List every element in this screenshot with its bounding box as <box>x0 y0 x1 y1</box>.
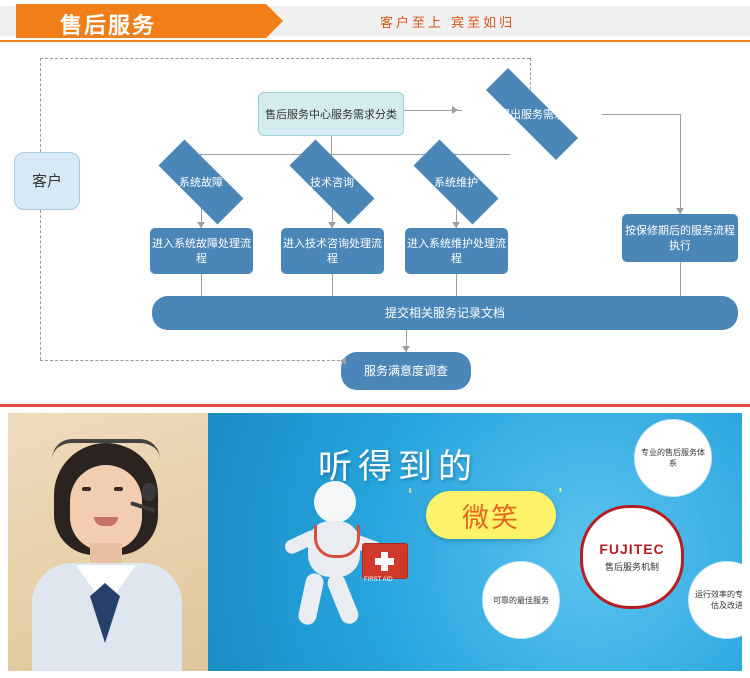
node-decision-1-label: 技术咨询 <box>273 156 391 208</box>
header-title: 售后服务 <box>60 8 156 40</box>
node-customer[interactable]: 客户 <box>14 152 80 210</box>
banner-inner: 听得到的 ‘ 微笑 ’ FIRST AID <box>8 413 742 671</box>
line-warranty-submit <box>680 262 681 296</box>
line-proc1-submit <box>332 274 333 296</box>
operator-photo <box>8 413 208 671</box>
brand-core: FUJITEC 售后服务机制 <box>580 505 684 609</box>
node-warranty-process[interactable]: 按保修期后的服务流程执行 <box>622 214 738 262</box>
node-decision-2[interactable]: 系统维护 <box>397 156 515 208</box>
quote-left: ‘ <box>408 485 412 508</box>
dashed-left-down <box>40 58 41 162</box>
bubble-0: 专业的售后服务体系 <box>634 419 712 497</box>
node-process-1[interactable]: 进入技术咨询处理流程 <box>281 228 384 274</box>
brand-name: FUJITEC <box>599 541 664 557</box>
header-banner: 售后服务 客户至上 宾至如归 <box>0 0 750 42</box>
node-decision-2-label: 系统维护 <box>397 156 515 208</box>
node-satisfaction-survey[interactable]: 服务满意度调查 <box>341 352 471 390</box>
flowchart: 客户 售后服务中心服务需求分类 提出服务需求 按保修期后的服务流程执行 系统故障… <box>0 44 750 404</box>
banner-blue-panel: 听得到的 ‘ 微笑 ’ FIRST AID <box>208 413 742 671</box>
banner-highlight-text: 微笑 <box>426 491 556 539</box>
node-service-center[interactable]: 售后服务中心服务需求分类 <box>258 92 404 136</box>
banner-highlight-pill: 微笑 <box>426 491 556 539</box>
mascot-leg-left <box>297 572 325 627</box>
service-wheel: FUJITEC 售后服务机制 专业的售后服务体系 运行效率的专业评估及改进 可靠… <box>538 465 718 645</box>
arrow-survey-to-customer <box>340 357 346 365</box>
node-service-request-label: 提出服务需求 <box>462 92 602 136</box>
bubble-1: 运行效率的专业评估及改进 <box>688 561 742 639</box>
line-center-down <box>331 136 332 154</box>
bottom-banner: 听得到的 ‘ 微笑 ’ FIRST AID <box>0 404 750 678</box>
node-service-request[interactable]: 提出服务需求 <box>462 92 602 136</box>
stethoscope-icon <box>314 525 360 558</box>
operator-figure <box>26 443 186 671</box>
line-proc0-submit <box>201 274 202 296</box>
dashed-bottom-line <box>40 360 340 361</box>
header-subtitle: 客户至上 宾至如归 <box>380 12 515 31</box>
node-decision-0-label: 系统故障 <box>142 156 260 208</box>
eye-right <box>114 487 123 491</box>
arrow-warranty <box>676 208 684 214</box>
first-aid-kit-icon <box>362 543 408 579</box>
mascot-figure: FIRST AID <box>278 481 408 641</box>
first-aid-label: FIRST AID <box>364 577 393 583</box>
page-root: 售后服务 客户至上 宾至如归 客户 售后服务中心服务需求分类 提出服务需求 按保… <box>0 0 750 675</box>
dashed-top-line <box>40 58 530 59</box>
line-branch-bus <box>200 154 510 155</box>
dashed-left-lower <box>40 210 41 360</box>
node-submit-docs[interactable]: 提交相关服务记录文档 <box>152 296 738 330</box>
bubble-2: 可靠的最佳服务 <box>482 561 560 639</box>
node-decision-1[interactable]: 技术咨询 <box>273 156 391 208</box>
headset-band-icon <box>52 439 160 459</box>
face-shape <box>70 465 142 551</box>
mascot-head <box>314 481 356 523</box>
headset-earpiece-icon <box>142 483 156 501</box>
mascot-leg-right <box>325 572 361 627</box>
brand-subtitle: 售后服务机制 <box>605 560 659 573</box>
line-center-to-request <box>404 110 462 111</box>
line-request-to-warranty <box>680 114 681 214</box>
line-request-right <box>602 114 680 115</box>
node-process-0[interactable]: 进入系统故障处理流程 <box>150 228 253 274</box>
eye-left <box>82 487 91 491</box>
line-proc2-submit <box>456 274 457 296</box>
node-process-2[interactable]: 进入系统维护处理流程 <box>405 228 508 274</box>
header-underline <box>0 40 750 42</box>
node-decision-0[interactable]: 系统故障 <box>142 156 260 208</box>
